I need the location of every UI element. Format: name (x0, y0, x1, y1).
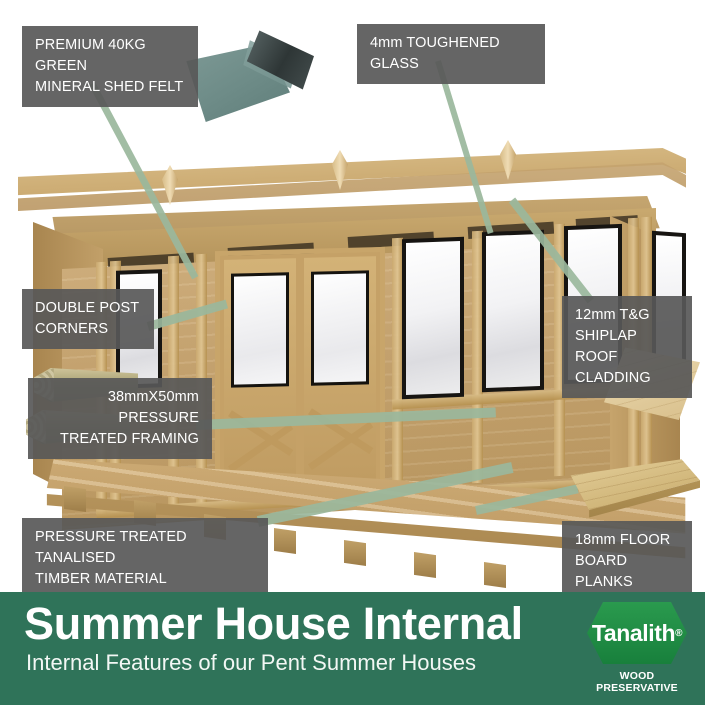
tanalith-logo: Tanalith® WOOD PRESERVATIVE (581, 600, 693, 696)
callout-shiplap-cladding: 12mm T&G SHIPLAP ROOF CLADDING (562, 296, 692, 398)
glass-panel (406, 241, 460, 395)
glass-panel (486, 234, 540, 388)
floor-bearer (64, 486, 86, 512)
callout-framing: 38mmX50mm PRESSURE TREATED FRAMING (28, 378, 212, 459)
door-leaf-left (220, 254, 300, 489)
logo-brand-text: Tanalith® (587, 602, 687, 664)
title-banner: Summer House Internal Internal Features … (0, 592, 705, 705)
floor-bearer (414, 552, 436, 578)
floor-plank-sample-image (568, 458, 700, 520)
logo-brand-name: Tanalith (592, 620, 675, 647)
infographic-page: PREMIUM 40KG GREEN MINERAL SHED FELT 4mm… (0, 0, 705, 705)
shed-felt-sample-image (182, 26, 308, 126)
callout-floor-planks: 18mm FLOOR BOARD PLANKS (562, 521, 692, 592)
page-title: Summer House Internal (24, 598, 523, 650)
floor-bearer (274, 528, 296, 554)
illustration-stage: PREMIUM 40KG GREEN MINERAL SHED FELT 4mm… (0, 0, 705, 592)
logo-tagline: WOOD PRESERVATIVE (581, 670, 693, 694)
window-pane (482, 230, 544, 392)
callout-double-post-corners: DOUBLE POST CORNERS (22, 289, 154, 349)
callout-shed-felt: PREMIUM 40KG GREEN MINERAL SHED FELT (22, 26, 198, 107)
door-leaf-right (300, 252, 380, 487)
double-door-unit (215, 247, 385, 494)
window-pane (402, 237, 464, 399)
door-glass (311, 270, 369, 386)
door-glass (231, 272, 289, 388)
callout-tanalised-timber: PRESSURE TREATED TANALISED TIMBER MATERI… (22, 518, 268, 592)
registered-mark: ® (675, 628, 682, 639)
floor-bearer (344, 540, 366, 566)
callout-toughened-glass: 4mm TOUGHENED GLASS (357, 24, 545, 84)
page-subtitle: Internal Features of our Pent Summer Hou… (26, 650, 476, 676)
floor-bearer (484, 562, 506, 588)
